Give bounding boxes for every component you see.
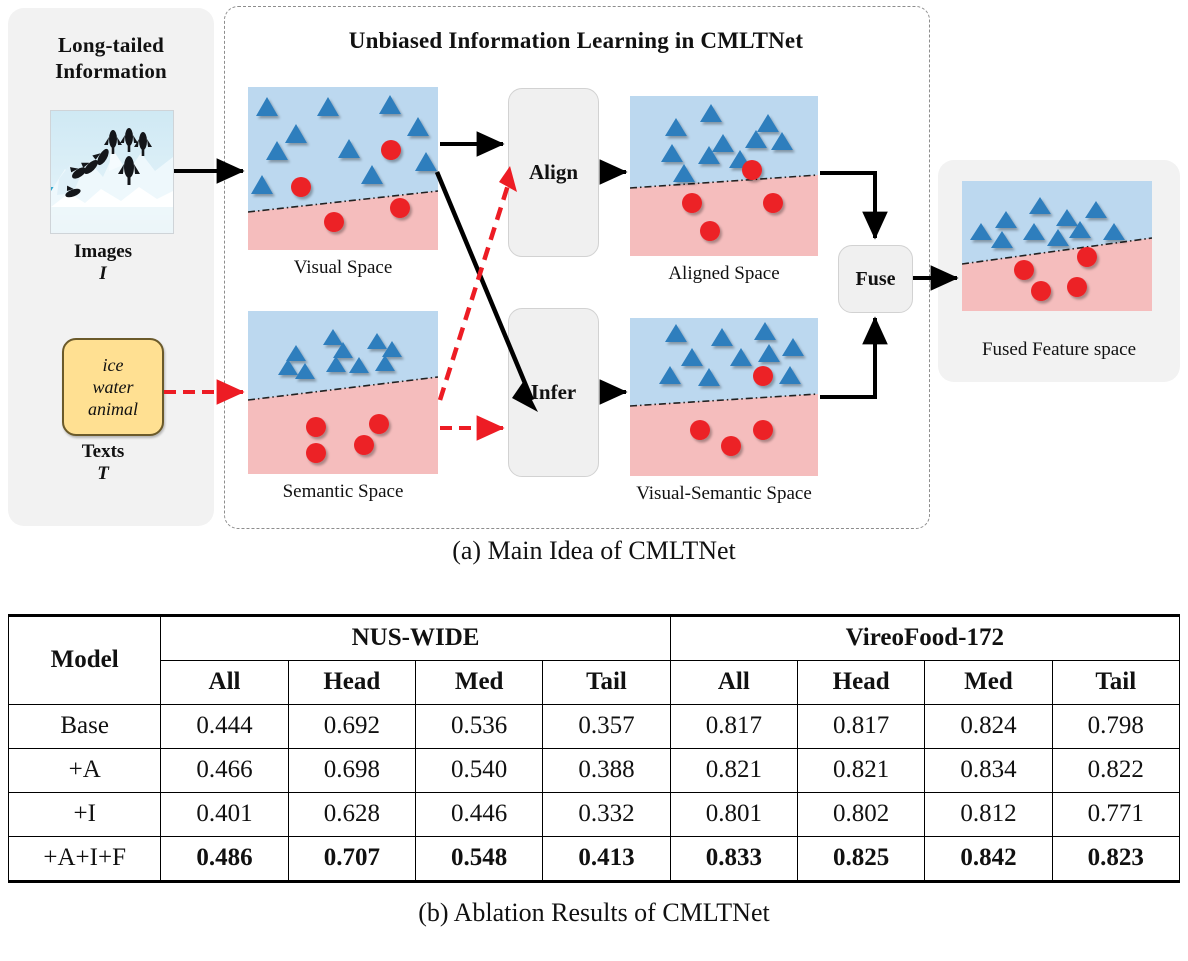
cell-value: 0.834 xyxy=(925,749,1052,793)
text-keywords-box: ice water animal xyxy=(62,338,164,436)
cell-value: 0.821 xyxy=(670,749,797,793)
table-header-row-groups: Model NUS-WIDE VireoFood-172 xyxy=(9,616,1180,661)
cell-value: 0.823 xyxy=(1052,837,1179,882)
cell-value: 0.332 xyxy=(543,793,670,837)
header-nuswide-med: Med xyxy=(416,661,543,705)
cell-value: 0.628 xyxy=(288,793,415,837)
texts-label: Texts xyxy=(0,440,206,463)
fused-space-label: Fused Feature space xyxy=(938,338,1180,361)
cell-value: 0.692 xyxy=(288,705,415,749)
header-model: Model xyxy=(9,616,161,705)
figure-a-caption: (a) Main Idea of CMLTNet xyxy=(0,536,1188,566)
header-vireofood-all: All xyxy=(670,661,797,705)
table-row: +I 0.401 0.628 0.446 0.332 0.801 0.802 0… xyxy=(9,793,1180,837)
cell-value: 0.802 xyxy=(797,793,924,837)
cell-value: 0.821 xyxy=(797,749,924,793)
cell-value: 0.548 xyxy=(416,837,543,882)
table-head: Model NUS-WIDE VireoFood-172 All Head Me… xyxy=(9,616,1180,705)
cell-value: 0.707 xyxy=(288,837,415,882)
cell-value: 0.824 xyxy=(925,705,1052,749)
table-header-row-metrics: All Head Med Tail All Head Med Tail xyxy=(9,661,1180,705)
infer-label: Infer xyxy=(531,380,577,405)
table-row: Base 0.444 0.692 0.536 0.357 0.817 0.817… xyxy=(9,705,1180,749)
header-nuswide-head: Head xyxy=(288,661,415,705)
visual-semantic-space-label: Visual-Semantic Space xyxy=(580,482,868,505)
cell-value: 0.388 xyxy=(543,749,670,793)
images-label: Images xyxy=(0,240,206,263)
images-symbol: I xyxy=(0,262,206,285)
cell-value: 0.444 xyxy=(161,705,288,749)
visual-space-scatter xyxy=(248,87,438,250)
header-nuswide-tail: Tail xyxy=(543,661,670,705)
cell-value: 0.401 xyxy=(161,793,288,837)
header-vireofood-tail: Tail xyxy=(1052,661,1179,705)
cell-value: 0.825 xyxy=(797,837,924,882)
semantic-space-scatter xyxy=(248,311,438,474)
figure-a-diagram: Long-tailed Information xyxy=(0,0,1188,585)
header-dataset-vireofood: VireoFood-172 xyxy=(670,616,1179,661)
cell-value: 0.842 xyxy=(925,837,1052,882)
fused-space-scatter xyxy=(962,181,1152,311)
table-row: +A 0.466 0.698 0.540 0.388 0.821 0.821 0… xyxy=(9,749,1180,793)
penguin-iceberg-photo xyxy=(50,110,174,234)
title-line-2: Information xyxy=(55,59,167,83)
infer-module-box[interactable]: Infer xyxy=(508,308,599,477)
cell-value: 0.801 xyxy=(670,793,797,837)
keyword-ice: ice xyxy=(103,354,124,376)
cell-model: +A xyxy=(9,749,161,793)
cell-value: 0.817 xyxy=(670,705,797,749)
cell-model: +I xyxy=(9,793,161,837)
cell-value: 0.833 xyxy=(670,837,797,882)
ablation-results-table-wrap: Model NUS-WIDE VireoFood-172 All Head Me… xyxy=(8,614,1180,883)
texts-symbol: T xyxy=(0,462,206,485)
cell-value: 0.446 xyxy=(416,793,543,837)
cell-value: 0.798 xyxy=(1052,705,1179,749)
cell-value: 0.466 xyxy=(161,749,288,793)
semantic-space-label: Semantic Space xyxy=(248,480,438,503)
ablation-results-table: Model NUS-WIDE VireoFood-172 All Head Me… xyxy=(8,614,1180,883)
cell-value: 0.771 xyxy=(1052,793,1179,837)
fuse-label: Fuse xyxy=(856,268,896,291)
cell-model: Base xyxy=(9,705,161,749)
cell-value: 0.357 xyxy=(543,705,670,749)
cell-value: 0.540 xyxy=(416,749,543,793)
long-tailed-information-title: Long-tailed Information xyxy=(8,32,214,84)
fuse-module-box[interactable]: Fuse xyxy=(838,245,913,313)
keyword-water: water xyxy=(92,376,133,398)
keyword-animal: animal xyxy=(88,398,138,420)
figure-b-caption: (b) Ablation Results of CMLTNet xyxy=(0,898,1188,928)
cell-value: 0.822 xyxy=(1052,749,1179,793)
align-module-box[interactable]: Align xyxy=(508,88,599,257)
visual-semantic-space-scatter xyxy=(630,318,818,476)
cell-value: 0.817 xyxy=(797,705,924,749)
center-title: Unbiased Information Learning in CMLTNet xyxy=(224,28,928,54)
cell-value: 0.413 xyxy=(543,837,670,882)
visual-space-label: Visual Space xyxy=(248,256,438,279)
align-label: Align xyxy=(529,160,578,185)
table-row: +A+I+F 0.486 0.707 0.548 0.413 0.833 0.8… xyxy=(9,837,1180,882)
header-nuswide-all: All xyxy=(161,661,288,705)
header-dataset-nuswide: NUS-WIDE xyxy=(161,616,670,661)
cell-value: 0.698 xyxy=(288,749,415,793)
aligned-space-label: Aligned Space xyxy=(600,262,848,285)
header-vireofood-med: Med xyxy=(925,661,1052,705)
table-body: Base 0.444 0.692 0.536 0.357 0.817 0.817… xyxy=(9,705,1180,882)
cell-value: 0.536 xyxy=(416,705,543,749)
aligned-space-scatter xyxy=(630,96,818,256)
cell-value: 0.486 xyxy=(161,837,288,882)
title-line-1: Long-tailed xyxy=(58,33,164,57)
cell-model: +A+I+F xyxy=(9,837,161,882)
header-vireofood-head: Head xyxy=(797,661,924,705)
cell-value: 0.812 xyxy=(925,793,1052,837)
